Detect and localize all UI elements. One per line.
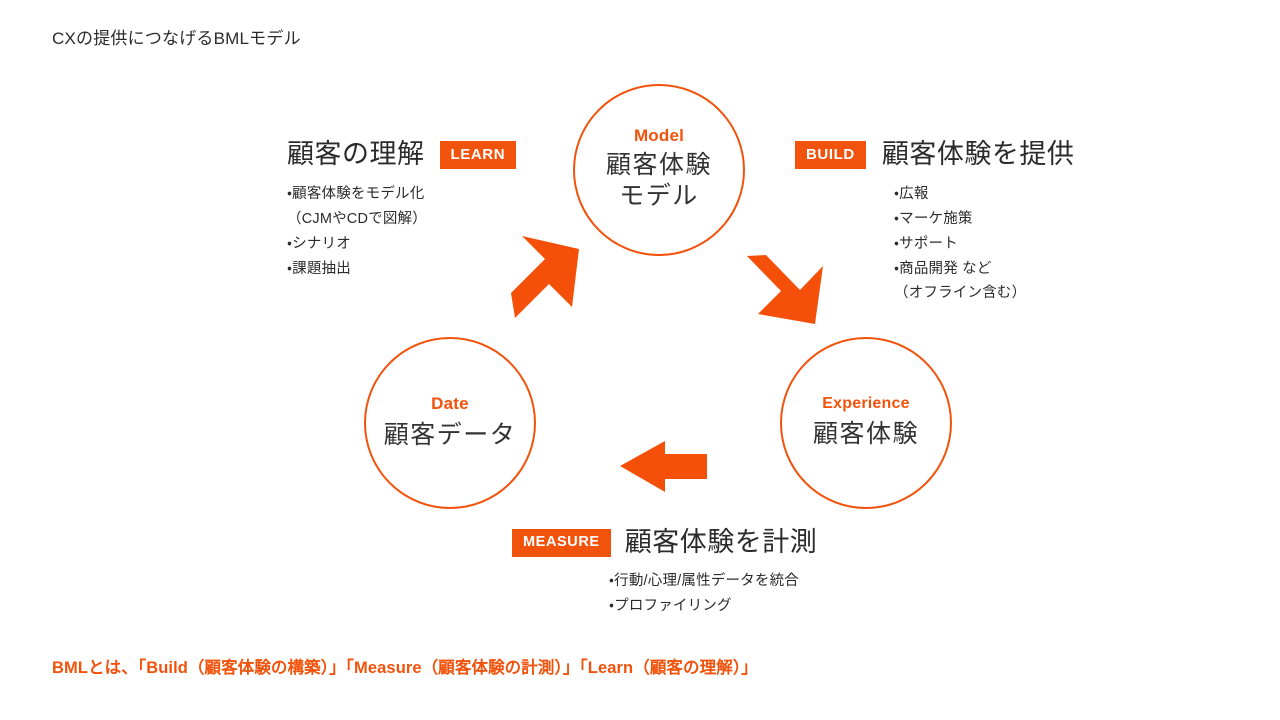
block-learn-heading: 顧客の理解 — [287, 140, 425, 170]
block-learn: 顧客の理解 LEARN ・顧客体験をモデル化 （CJMやCDで図解） ・シナリオ… — [287, 140, 516, 281]
badge-measure: MEASURE — [512, 529, 611, 557]
arrow-measure-icon — [620, 441, 707, 492]
list-item: ・シナリオ — [287, 232, 516, 257]
cycle-node-experience-label-jp: 顧客体験 — [813, 419, 919, 451]
list-item: ・広報 — [894, 182, 1074, 207]
block-measure: MEASURE 顧客体験を計測 ・行動/心理/属性データを統合 ・プロファイリン… — [512, 528, 817, 619]
block-measure-bullets: ・行動/心理/属性データを統合 ・プロファイリング — [609, 569, 817, 619]
cycle-node-date-label-en: Date — [431, 395, 469, 414]
badge-learn: LEARN — [440, 141, 517, 169]
block-build: BUILD 顧客体験を提供 ・広報 ・マーケ施策 ・サポート ・商品開発 など … — [795, 140, 1074, 306]
list-item: ・サポート — [894, 232, 1074, 257]
block-learn-bullets: ・顧客体験をモデル化 （CJMやCDで図解） ・シナリオ ・課題抽出 — [287, 182, 516, 282]
block-build-header: BUILD 顧客体験を提供 — [795, 140, 1074, 170]
cycle-node-experience-label-en: Experience — [822, 395, 909, 413]
list-item: ・プロファイリング — [609, 594, 817, 619]
block-measure-header: MEASURE 顧客体験を計測 — [512, 528, 817, 558]
cycle-node-model-label-en: Model — [634, 127, 684, 146]
block-build-bullets: ・広報 ・マーケ施策 ・サポート ・商品開発 など （オフライン含む） — [894, 182, 1074, 307]
cycle-node-model: Model 顧客体験 モデル — [573, 84, 745, 256]
cycle-node-model-label-jp: 顧客体験 モデル — [606, 150, 712, 213]
list-item: ・行動/心理/属性データを統合 — [609, 569, 817, 594]
list-item: ・マーケ施策 — [894, 207, 1074, 232]
list-item: ・顧客体験をモデル化 （CJMやCDで図解） — [287, 182, 516, 232]
badge-build: BUILD — [795, 141, 866, 169]
cycle-node-experience: Experience 顧客体験 — [780, 337, 952, 509]
list-item: ・課題抽出 — [287, 257, 516, 282]
arrow-learn-icon — [511, 236, 579, 318]
footer-note: BMLとは、「Build（顧客体験の構築）」「Measure（顧客体験の計測）」… — [52, 654, 758, 678]
block-build-heading: 顧客体験を提供 — [882, 140, 1075, 170]
block-learn-header: 顧客の理解 LEARN — [287, 140, 516, 170]
block-measure-heading: 顧客体験を計測 — [625, 528, 818, 558]
cycle-node-date: Date 顧客データ — [364, 337, 536, 509]
cycle-node-date-label-jp: 顧客データ — [384, 420, 517, 452]
list-item: ・商品開発 など （オフライン含む） — [894, 257, 1074, 307]
